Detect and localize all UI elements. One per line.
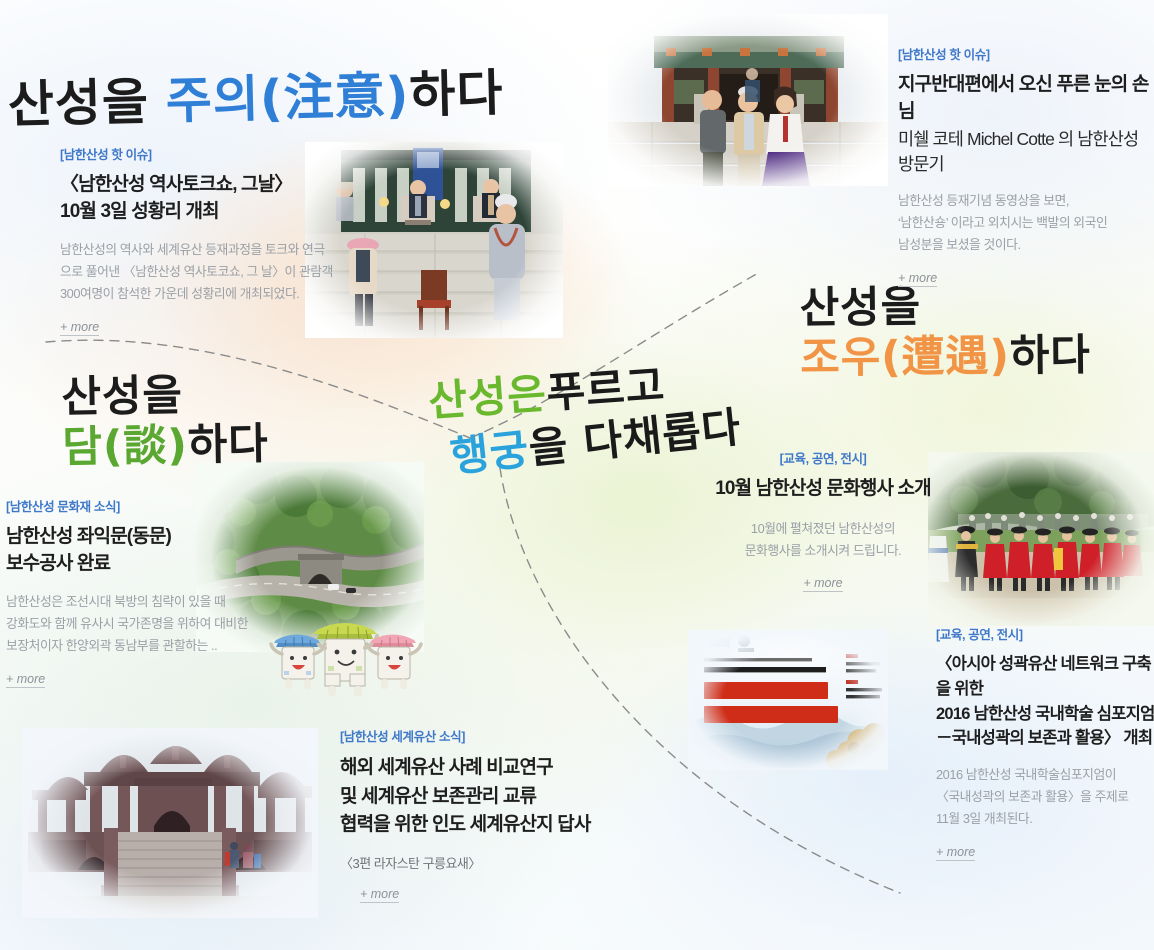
heading-center-line2a: 행궁	[448, 425, 532, 482]
heading-meet-prefix: 산성을	[799, 281, 1090, 334]
heading-attention-accent: 주의(注意)	[165, 66, 410, 130]
more-link[interactable]: + more	[360, 887, 399, 903]
heading-center-line1a: 산성은	[427, 369, 549, 426]
article-title-line1: 〈남한산성 역사토크쇼, 그날〉	[60, 172, 360, 199]
desc-line-2: 〈국내성곽의 보존과 활용〉을 주제로	[936, 786, 1154, 808]
heading-talk-prefix: 산성을	[61, 370, 268, 423]
michel-cotte-group-photo	[608, 14, 888, 186]
desc-line-2: 문화행사를 소개시켜 드립니다.	[668, 540, 978, 562]
heading-attention: 산성을 주의(注意)하다	[7, 66, 504, 133]
article-title-line2: 및 세계유산 보존관리 교류	[340, 783, 670, 812]
article-history-talkshow: [남한산성 핫 이슈] 〈남한산성 역사토크쇼, 그날〉 10월 3일 성황리 …	[60, 148, 360, 336]
article-title-line1: 10월 남한산성 문화행사 소개	[668, 476, 978, 503]
article-title-line2: 보수공사 완료	[6, 551, 296, 578]
article-title: 〈남한산성 역사토크쇼, 그날〉 10월 3일 성황리 개최	[60, 172, 360, 226]
desc-line-1: 2016 남한산성 국내학술심포지엄이	[936, 764, 1154, 786]
heading-meet-suffix: 하다	[1010, 330, 1091, 381]
article-title: 해외 세계유산 사례 비교연구 및 세계유산 보존관리 교류 협력을 위한 인도…	[340, 754, 670, 840]
heading-attention-suffix: 하다	[409, 64, 504, 124]
desc-line-3: 300여명이 참석한 가운데 성황리에 개최되었다.	[60, 283, 360, 305]
heading-attention-prefix: 산성을	[7, 73, 149, 134]
article-symposium: [교육, 공연, 전시] 〈아시아 성곽유산 네트워크 구축을 위한 2016 …	[936, 628, 1154, 861]
article-category: [남한산성 세계유산 소식]	[340, 730, 670, 745]
more-link[interactable]: + more	[6, 672, 45, 688]
article-title-line3: 협력을 위한 인도 세계유산지 답사	[340, 811, 670, 840]
more-link[interactable]: + more	[803, 576, 842, 592]
heading-talk-accent: 담(談)	[62, 420, 188, 472]
heading-talk: 산성을 담(談)하다	[61, 370, 269, 473]
newsletter-canvas: 산성을 주의(注意)하다 산성을 담(談)하다 산성을 조우(遭遇)하다 산성은…	[0, 0, 1154, 950]
more-link[interactable]: + more	[60, 320, 99, 336]
article-title-line2: 10월 3일 성황리 개최	[60, 199, 360, 226]
more-link[interactable]: + more	[936, 845, 975, 861]
article-title: 남한산성 좌익문(동문) 보수공사 완료	[6, 524, 296, 578]
india-world-heritage-fort-photo	[22, 728, 318, 918]
article-description: 남한산성 등재기념 동영상을 보면, ‘남한산숑’ 이라고 외치시는 백발의 외…	[898, 190, 1154, 256]
desc-line-3: 남성분을 보셨을 것이다.	[898, 234, 1154, 256]
desc-line-3: 11월 3일 개최된다.	[936, 808, 1154, 830]
heading-meet: 산성을 조우(遭遇)하다	[799, 281, 1090, 384]
article-note: 〈3편 라자스탄 구릉요새〉	[340, 853, 670, 872]
heading-meet-accent: 조우(遭遇)	[800, 331, 1010, 383]
article-category: [남한산성 핫 이슈]	[898, 48, 1154, 63]
desc-line-2: 으로 풀어낸 〈남한산성 역사토코쇼, 그 날〉이 관람객	[60, 261, 360, 283]
article-east-gate-repair: [남한산성 문화재 소식] 남한산성 좌익문(동문) 보수공사 완료 남한산성은…	[6, 500, 296, 688]
article-title: 지구반대편에서 오신 푸른 눈의 손님 미쉘 코테 Michel Cotte 의…	[898, 72, 1154, 177]
article-title-line1: 지구반대편에서 오신 푸른 눈의 손님	[898, 72, 1154, 126]
article-description: 남한산성은 조선시대 북방의 침략이 있을 때 강화도와 함께 유사시 국가존명…	[6, 591, 296, 657]
article-title-line1: 해외 세계유산 사례 비교연구	[340, 754, 670, 783]
article-title-line2: 2016 남한산성 국내학술 심포지엄	[936, 702, 1154, 727]
article-category: [남한산성 문화재 소식]	[6, 500, 296, 515]
desc-line-3: 보장처이자 한양외곽 동남부를 관할하는 ..	[6, 635, 296, 657]
heading-center-line1b: 푸르고	[545, 360, 667, 417]
article-india-survey: [남한산성 세계유산 소식] 해외 세계유산 사례 비교연구 및 세계유산 보존…	[340, 730, 670, 903]
article-title: 10월 남한산성 문화행사 소개	[668, 476, 978, 503]
article-title-line1: 남한산성 좌익문(동문)	[6, 524, 296, 551]
article-title-line3: －국내성곽의 보존과 활용〉 개최	[936, 726, 1154, 751]
article-category: [남한산성 핫 이슈]	[60, 148, 360, 163]
desc-line-1: 남한산성의 역사와 세계유산 등재과정을 토크와 연극	[60, 239, 360, 261]
article-title-line1: 〈아시아 성곽유산 네트워크 구축을 위한	[936, 652, 1154, 702]
desc-line-1: 남한산성 등재기념 동영상을 보면,	[898, 190, 1154, 212]
desc-line-2: 강화도와 함께 유사시 국가존명을 위하여 대비한	[6, 613, 296, 635]
desc-line-1: 남한산성은 조선시대 북방의 침략이 있을 때	[6, 591, 296, 613]
article-category: [교육, 공연, 전시]	[936, 628, 1154, 643]
article-description: 10월에 펼쳐졌던 남한산성의 문화행사를 소개시켜 드립니다.	[668, 518, 978, 562]
article-october-events: [교육, 공연, 전시] 10월 남한산성 문화행사 소개 10월에 펼쳐졌던 …	[668, 452, 978, 592]
more-link[interactable]: + more	[898, 271, 937, 287]
article-description: 2016 남한산성 국내학술심포지엄이 〈국내성곽의 보존과 활용〉을 주제로 …	[936, 764, 1154, 830]
article-michel-cotte: [남한산성 핫 이슈] 지구반대편에서 오신 푸른 눈의 손님 미쉘 코테 Mi…	[898, 48, 1154, 287]
article-title-line2: 미쉘 코테 Michel Cotte 의 남한산성 방문기	[898, 127, 1154, 177]
desc-line-2: ‘남한산숑’ 이라고 외치시는 백발의 외국인	[898, 212, 1154, 234]
heading-talk-suffix: 하다	[187, 419, 269, 470]
article-title: 〈아시아 성곽유산 네트워크 구축을 위한 2016 남한산성 국내학술 심포지…	[936, 652, 1154, 751]
desc-line-1: 10월에 펼쳐졌던 남한산성의	[668, 518, 978, 540]
article-category: [교육, 공연, 전시]	[668, 452, 978, 467]
symposium-poster-image	[688, 630, 888, 770]
article-description: 남한산성의 역사와 세계유산 등재과정을 토크와 연극 으로 풀어낸 〈남한산성…	[60, 239, 360, 305]
